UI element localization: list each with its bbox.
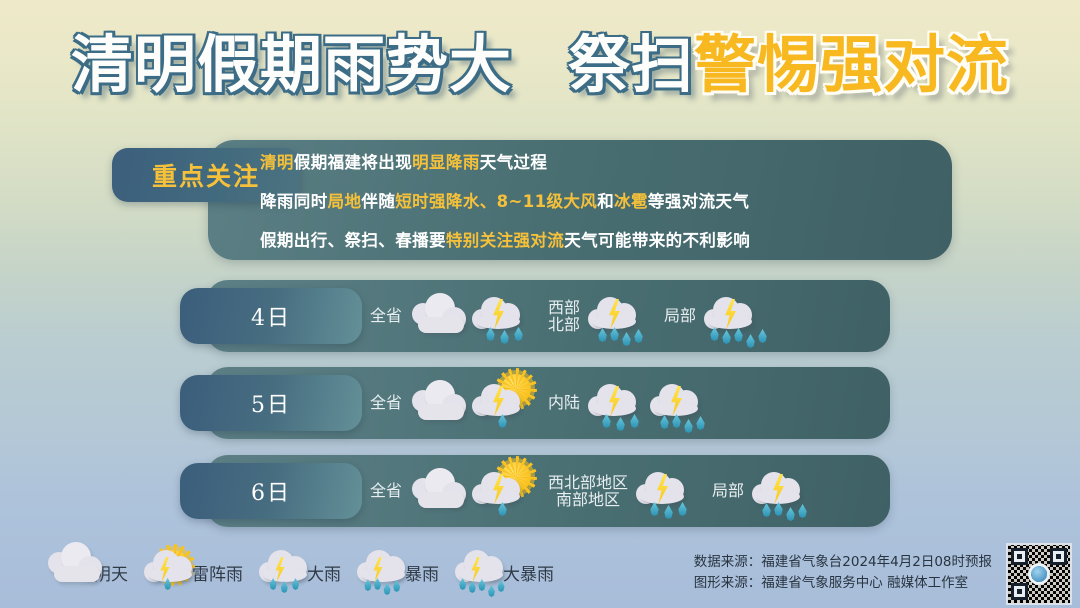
weather-icon-group xyxy=(702,285,764,347)
region-label: 全省 xyxy=(370,307,402,324)
forecast-row-6日: 6日全省西北部地区南部地区局部 xyxy=(180,455,890,527)
raindrop-icon xyxy=(485,327,496,341)
focus-line-2-seg-3: 伴随 xyxy=(361,192,395,211)
region-group-1: 全省 xyxy=(370,455,532,527)
legend-item-1: 阴天 xyxy=(44,548,128,596)
raindrop-icon xyxy=(373,578,382,590)
legend-item-4: 暴雨 xyxy=(355,548,439,596)
title-part-1: 清明假期雨势大 xyxy=(71,34,512,96)
raindrop-icon xyxy=(513,327,524,341)
legend-item-5: 大暴雨 xyxy=(453,548,554,596)
row-content: 全省西北部地区南部地区局部 xyxy=(370,455,890,527)
raindrop-icon xyxy=(721,330,732,344)
page-title: 清明假期雨势大 祭扫 警惕强对流 xyxy=(0,34,1080,96)
region-label: 西部北部 xyxy=(548,299,580,334)
forecast-row-4日: 4日全省西部北部局部 xyxy=(180,280,890,352)
day-label-pill: 4日 xyxy=(180,288,362,344)
raindrop-icon xyxy=(709,327,720,341)
weather-icon-group xyxy=(408,285,532,347)
raindrop-icon xyxy=(757,329,768,343)
focus-line-1-seg-1: 清明 xyxy=(260,153,294,172)
focus-badge-label: 重点关注 xyxy=(152,157,260,193)
cloudy-icon xyxy=(408,460,470,522)
focus-line-1-seg-3: 明显降雨 xyxy=(412,153,480,172)
severe-rainstorm-icon xyxy=(702,285,764,347)
qr-corner-bl xyxy=(1011,583,1028,600)
legend: 阴天雷阵雨大雨暴雨大暴雨 xyxy=(44,548,564,596)
focus-line-2-seg-4: 短时强降水、8~11级大风 xyxy=(395,192,597,211)
region-label-line: 南部地区 xyxy=(548,491,628,508)
focus-line-2-seg-2: 局地 xyxy=(328,192,362,211)
region-label-line: 内陆 xyxy=(548,394,580,411)
raindrop-icon xyxy=(633,329,644,343)
raindrops xyxy=(473,414,533,436)
region-label-line: 全省 xyxy=(370,394,402,411)
legend-label: 雷阵雨 xyxy=(192,560,243,585)
source-footer: 数据来源：福建省气象台2024年4月2日08时预报 图形来源：福建省气象服务中心… xyxy=(694,552,992,594)
cloud-puff xyxy=(54,566,100,582)
focus-line-2-seg-1: 降雨同时 xyxy=(260,192,328,211)
day-label-pill: 5日 xyxy=(180,375,362,431)
forecast-row-5日: 5日全省内陆 xyxy=(180,367,890,439)
day-label: 4日 xyxy=(251,300,291,332)
raindrop-icon xyxy=(761,503,772,517)
weather-icon-group xyxy=(408,372,532,434)
focus-section: 重点关注 清明假期福建将出现明显降雨天气过程降雨同时局地伴随短时强降水、8~11… xyxy=(112,140,952,260)
focus-line-1: 清明假期福建将出现明显降雨天气过程 xyxy=(260,155,950,172)
raindrops xyxy=(144,576,192,598)
raindrops xyxy=(753,502,813,524)
raindrops xyxy=(651,414,711,436)
region-group-2: 西部北部 xyxy=(548,280,648,352)
legend-item-3: 大雨 xyxy=(257,548,341,596)
region-label-line: 北部 xyxy=(548,316,580,333)
focus-line-1-seg-4: 天气过程 xyxy=(480,153,548,172)
raindrop-icon xyxy=(649,502,660,516)
focus-line-2-seg-5: 和 xyxy=(597,192,614,211)
region-label-line: 西部 xyxy=(548,299,580,316)
raindrop-icon xyxy=(677,502,688,516)
raindrop-icon xyxy=(629,414,640,428)
day-label: 5日 xyxy=(251,387,291,419)
cloudy-icon xyxy=(408,372,470,434)
raindrop-icon xyxy=(163,578,172,590)
region-group-1: 全省 xyxy=(370,280,532,352)
heavy-rain-icon xyxy=(634,460,696,522)
raindrops xyxy=(473,502,533,524)
region-label: 局部 xyxy=(712,482,744,499)
rainstorm-icon xyxy=(648,372,710,434)
raindrop-icon xyxy=(468,581,477,593)
region-group-1: 全省 xyxy=(370,367,532,439)
raindrop-icon xyxy=(291,578,300,590)
raindrop-icon xyxy=(269,578,278,590)
day-label: 6日 xyxy=(251,475,291,507)
focus-line-3: 假期出行、祭扫、春播要特别关注强对流天气可能带来的不利影响 xyxy=(260,233,950,250)
region-label: 内陆 xyxy=(548,394,580,411)
raindrops xyxy=(637,502,697,524)
cloud-shape xyxy=(412,386,466,420)
raindrop-icon xyxy=(363,579,372,591)
raindrop-icon xyxy=(499,330,510,344)
row-content: 全省内陆 xyxy=(370,367,890,439)
raindrop-icon xyxy=(383,583,392,595)
raindrop-icon xyxy=(621,332,632,346)
raindrop-icon xyxy=(458,578,467,590)
qr-code[interactable] xyxy=(1006,543,1072,605)
focus-line-2: 降雨同时局地伴随短时强降水、8~11级大风和冰雹等强对流天气 xyxy=(260,194,950,211)
region-group-3: 局部 xyxy=(712,455,812,527)
raindrop-icon xyxy=(695,416,706,430)
raindrops xyxy=(589,327,649,349)
raindrop-icon xyxy=(671,414,682,428)
raindrop-icon xyxy=(683,419,694,433)
raindrop-icon xyxy=(615,417,626,431)
focus-line-3-seg-2: 特别关注强对流 xyxy=(446,231,564,250)
raindrop-icon xyxy=(733,328,744,342)
heavy-rain-icon xyxy=(470,285,532,347)
raindrops xyxy=(455,576,503,598)
cloud-shape xyxy=(412,299,466,333)
raindrops xyxy=(705,327,765,349)
raindrop-icon xyxy=(392,580,401,592)
legend-label: 暴雨 xyxy=(405,560,439,585)
cloud-shape xyxy=(48,548,102,582)
weather-icon-group xyxy=(586,285,648,347)
raindrops xyxy=(473,327,533,349)
cloud-shape xyxy=(412,474,466,508)
row-content: 全省西部北部局部 xyxy=(370,280,890,352)
raindrop-icon xyxy=(597,328,608,342)
raindrop-icon xyxy=(601,414,612,428)
cloud-puff xyxy=(418,404,464,420)
raindrops xyxy=(357,576,405,598)
raindrop-icon xyxy=(773,502,784,516)
raindrop-icon xyxy=(797,504,808,518)
data-source-line: 数据来源：福建省气象台2024年4月2日08时预报 xyxy=(694,552,992,573)
thundershower-icon xyxy=(470,372,532,434)
region-group-2: 内陆 xyxy=(548,367,710,439)
legend-thunder-icon xyxy=(355,548,403,596)
focus-line-2-seg-7: 等强对流天气 xyxy=(648,192,749,211)
region-label: 全省 xyxy=(370,394,402,411)
region-group-2: 西北部地区南部地区 xyxy=(548,455,696,527)
graphic-source-line: 图形来源：福建省气象服务中心 融媒体工作室 xyxy=(694,573,992,594)
region-group-3: 局部 xyxy=(664,280,764,352)
raindrops xyxy=(259,576,307,598)
legend-sun-thunder-icon xyxy=(142,548,190,596)
raindrop-icon xyxy=(497,414,508,428)
weather-icon-group xyxy=(634,460,696,522)
raindrops xyxy=(589,414,649,436)
cloud-puff xyxy=(418,492,464,508)
focus-line-1-seg-2: 假期福建将出现 xyxy=(294,153,412,172)
rainstorm-icon xyxy=(586,285,648,347)
region-label-line: 局部 xyxy=(664,307,696,324)
legend-cloudy-icon xyxy=(44,548,92,596)
raindrop-icon xyxy=(477,579,486,591)
region-label: 西北部地区南部地区 xyxy=(548,474,628,509)
region-label-line: 西北部地区 xyxy=(548,474,628,491)
focus-line-3-seg-1: 假期出行、祭扫、春播要 xyxy=(260,231,446,250)
raindrop-icon xyxy=(487,585,496,597)
title-part-3: 警惕强对流 xyxy=(694,34,1009,96)
weather-icon-group xyxy=(750,460,812,522)
legend-label: 大暴雨 xyxy=(503,560,554,585)
legend-thunder-icon xyxy=(453,548,501,596)
focus-line-3-seg-3: 天气可能带来的不利影响 xyxy=(564,231,750,250)
qr-corner-tl xyxy=(1011,548,1028,565)
focus-line-2-seg-6: 冰雹 xyxy=(614,192,648,211)
region-label: 局部 xyxy=(664,307,696,324)
thundershower-icon xyxy=(470,460,532,522)
weather-icon-group xyxy=(408,460,532,522)
raindrop-icon xyxy=(663,505,674,519)
raindrop-icon xyxy=(280,581,289,593)
raindrop-icon xyxy=(745,334,756,348)
raindrop-icon xyxy=(609,327,620,341)
region-label-line: 全省 xyxy=(370,307,402,324)
qr-corner-tr xyxy=(1050,548,1067,565)
legend-item-2: 雷阵雨 xyxy=(142,548,243,596)
rainstorm-icon xyxy=(750,460,812,522)
title-part-2: 祭扫 xyxy=(568,34,694,96)
region-label: 全省 xyxy=(370,482,402,499)
region-label-line: 局部 xyxy=(712,482,744,499)
raindrop-icon xyxy=(659,415,670,429)
cloud-puff xyxy=(418,317,464,333)
region-label-line: 全省 xyxy=(370,482,402,499)
weather-icon-group xyxy=(586,372,710,434)
raindrop-icon xyxy=(785,507,796,521)
cloudy-icon xyxy=(408,285,470,347)
legend-label: 大雨 xyxy=(307,560,341,585)
heavy-rain-icon xyxy=(586,372,648,434)
legend-thunder-icon xyxy=(257,548,305,596)
focus-text-lines: 清明假期福建将出现明显降雨天气过程降雨同时局地伴随短时强降水、8~11级大风和冰… xyxy=(260,150,950,254)
day-label-pill: 6日 xyxy=(180,463,362,519)
raindrop-icon xyxy=(497,502,508,516)
